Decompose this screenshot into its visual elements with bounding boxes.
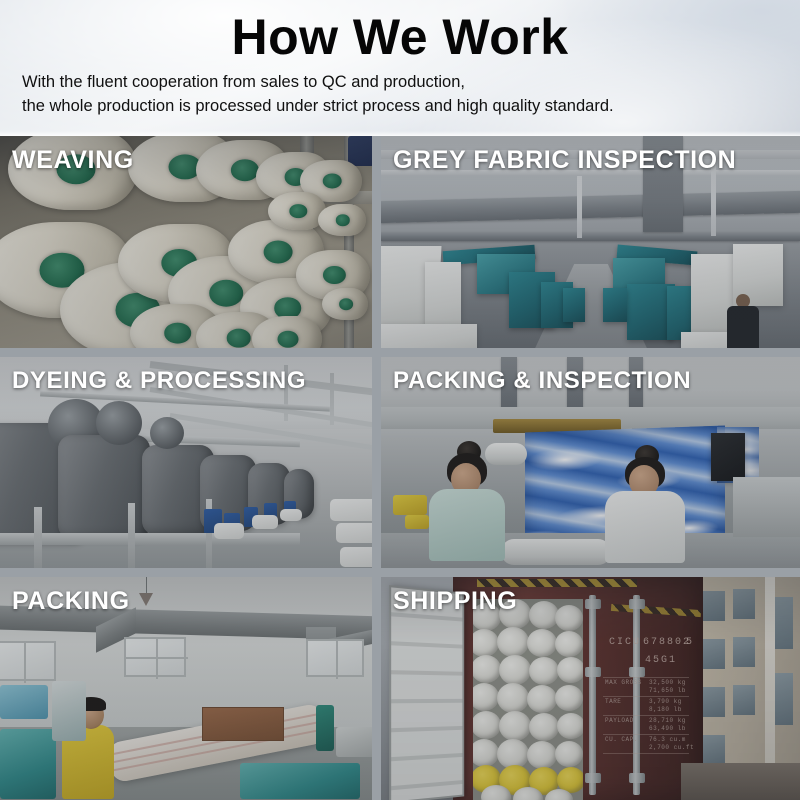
caption-packing: PACKING [12,585,130,617]
container-door [389,585,464,800]
plate-row-1-label: TARE [605,698,621,705]
worker-right [597,445,693,563]
caption-weaving: WEAVING [12,144,134,176]
page-subtitle: With the fluent cooperation from sales t… [22,70,782,118]
process-tile-packing[interactable]: PACKING [0,577,381,800]
plate-row-1-kg: 3,790 kg [649,698,682,705]
plate-row-3-lb: 2,700 cu.ft [649,744,694,751]
process-tile-grey-fabric-inspection[interactable]: GREY FABRIC INSPECTION [381,136,800,357]
plate-row-0-label: MAX GROSS [605,679,642,686]
plate-row-3-kg: 76.3 cu.m [649,736,686,743]
plate-row-0-lb: 71,650 lb [649,687,686,694]
caption-grey-fabric-inspection: GREY FABRIC INSPECTION [393,144,736,176]
container-owner-code: CICU [609,637,641,648]
subtitle-line-2: the whole production is processed under … [22,94,782,118]
process-tile-packing-inspection[interactable]: PACKING & INSPECTION [381,357,800,577]
caption-packing-inspection: PACKING & INSPECTION [393,365,691,397]
container-check-digit: 5 [686,637,694,648]
plate-row-0-kg: 32,500 kg [649,679,686,686]
worker-left [421,441,511,561]
caption-shipping: SHIPPING [393,585,517,617]
pendant-lamp-icon [139,593,153,606]
process-tile-dyeing-processing[interactable]: DYEING & PROCESSING [0,357,381,577]
process-grid: WEAVING [0,136,800,800]
worker-body [727,306,759,348]
plate-row-1-lb: 8,180 lb [649,706,682,713]
container-type-code: 45G1 [645,655,677,666]
wood-crate [202,707,284,741]
page-header: How We Work With the fluent cooperation … [0,0,800,136]
wall-window [0,641,56,681]
page-title: How We Work [0,6,800,68]
fabric-roll [501,539,611,565]
cargo-rolls [473,599,583,800]
plate-row-2-lb: 63,490 lb [649,725,686,732]
process-tile-shipping[interactable]: CICU 678802 5 45G1 MAX GROSS 32,500 kg 7… [381,577,800,800]
how-we-work-page: How We Work With the fluent cooperation … [0,0,800,800]
process-tile-weaving[interactable]: WEAVING [0,136,381,357]
plate-row-3-label: CU. CAP. [605,736,638,743]
subtitle-line-1: With the fluent cooperation from sales t… [22,70,782,94]
plate-row-2-label: PAYLOAD [605,717,634,724]
caption-dyeing-processing: DYEING & PROCESSING [12,365,306,397]
plate-row-2-kg: 28,710 kg [649,717,686,724]
container-serial: 678802 [643,637,691,648]
